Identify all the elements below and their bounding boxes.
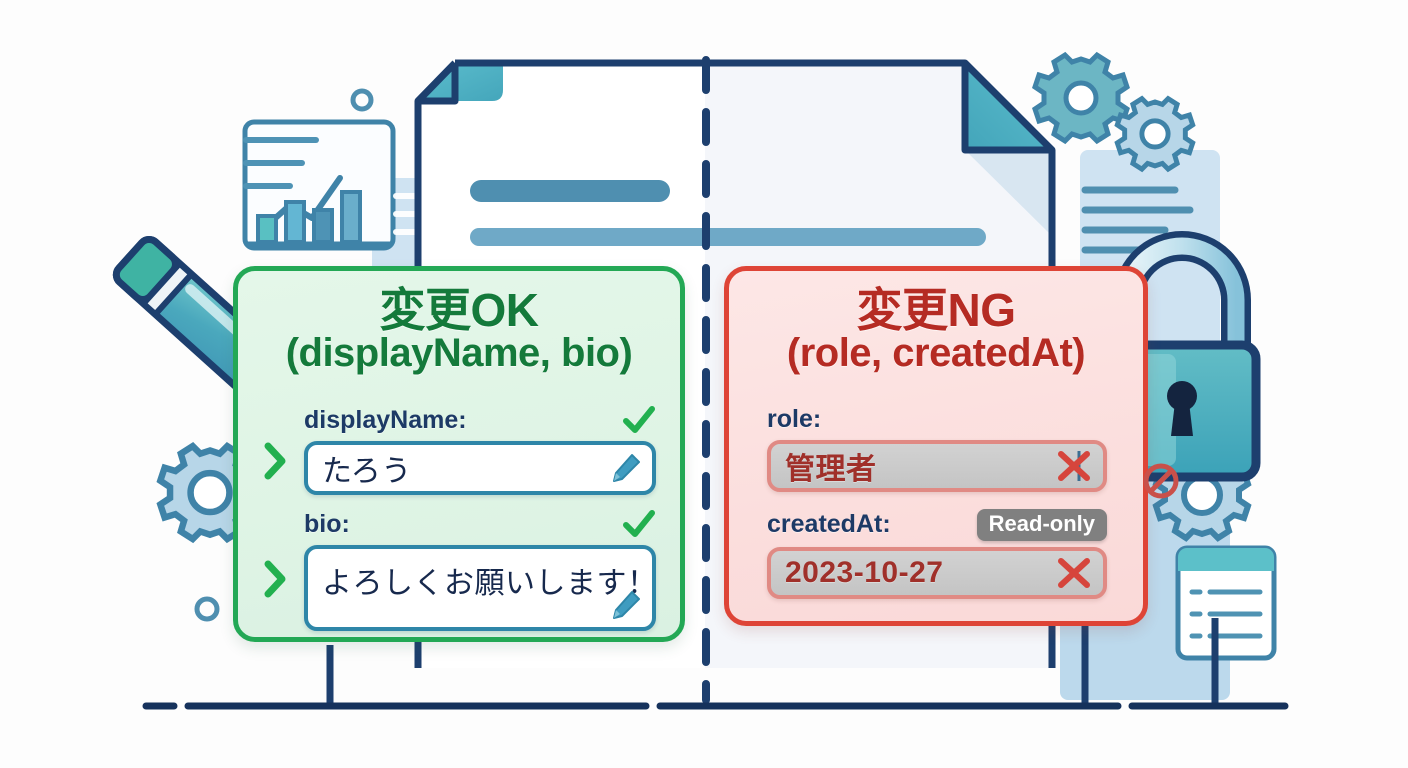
- cross-icon: [1055, 554, 1093, 592]
- displayname-value: たろう: [308, 446, 412, 490]
- field-createdat: createdAt: Read-only 2023-10-27: [767, 509, 1107, 599]
- field-displayname: displayName: たろう: [304, 405, 656, 495]
- role-input-locked: 管理者: [767, 440, 1107, 492]
- role-label-row: role:: [767, 405, 1107, 434]
- displayname-label: displayName:: [304, 406, 467, 435]
- ng-title-sub: (role, createdAt): [729, 333, 1143, 375]
- prohibition-icon: [1141, 461, 1181, 506]
- check-icon: [622, 405, 656, 435]
- dot-ring: [197, 599, 217, 619]
- background-art: [0, 0, 1408, 768]
- ok-title-sub: (displayName, bio): [238, 333, 680, 375]
- ng-card-title: 変更NG (role, createdAt): [729, 271, 1143, 374]
- displayname-label-row: displayName:: [304, 405, 656, 435]
- displayname-input[interactable]: たろう: [304, 441, 656, 495]
- status-badge: Read-only: [977, 509, 1107, 541]
- editable-fields-card: 変更OK (displayName, bio) displayName: たろう: [233, 266, 685, 642]
- createdat-label-row: createdAt: Read-only: [767, 509, 1107, 541]
- list-icon: [1178, 548, 1274, 658]
- text-line-heading: [470, 180, 670, 202]
- role-value: 管理者: [771, 444, 877, 488]
- gear-icon: [1035, 55, 1127, 141]
- ok-title-main: 変更OK: [238, 287, 680, 335]
- field-bio: bio: よろしくお願いします！: [304, 509, 656, 631]
- cross-icon: [1055, 447, 1093, 485]
- role-label: role:: [767, 405, 821, 434]
- chart-icon: [245, 122, 420, 248]
- bio-textarea[interactable]: よろしくお願いします！: [304, 545, 656, 631]
- createdat-label: createdAt:: [767, 510, 891, 539]
- bio-label: bio:: [304, 510, 350, 539]
- illustration-canvas: 変更OK (displayName, bio) displayName: たろう: [0, 0, 1408, 768]
- readonly-fields-card: 変更NG (role, createdAt) role: 管理者: [724, 266, 1148, 626]
- text-line-body: [470, 228, 986, 246]
- createdat-input-locked: 2023-10-27: [767, 547, 1107, 599]
- chevron-right-icon: [262, 559, 288, 599]
- createdat-value: 2023-10-27: [771, 556, 943, 590]
- dot-ring: [353, 91, 371, 109]
- check-icon: [622, 509, 656, 539]
- chevron-right-icon: [262, 441, 288, 481]
- bio-label-row: bio:: [304, 509, 656, 539]
- ok-card-title: 変更OK (displayName, bio): [238, 271, 680, 374]
- ng-title-main: 変更NG: [729, 287, 1143, 335]
- pencil-icon[interactable]: [610, 589, 642, 621]
- pencil-icon[interactable]: [610, 452, 642, 484]
- bio-value: よろしくお願いします！: [308, 558, 658, 602]
- field-role: role: 管理者: [767, 405, 1107, 492]
